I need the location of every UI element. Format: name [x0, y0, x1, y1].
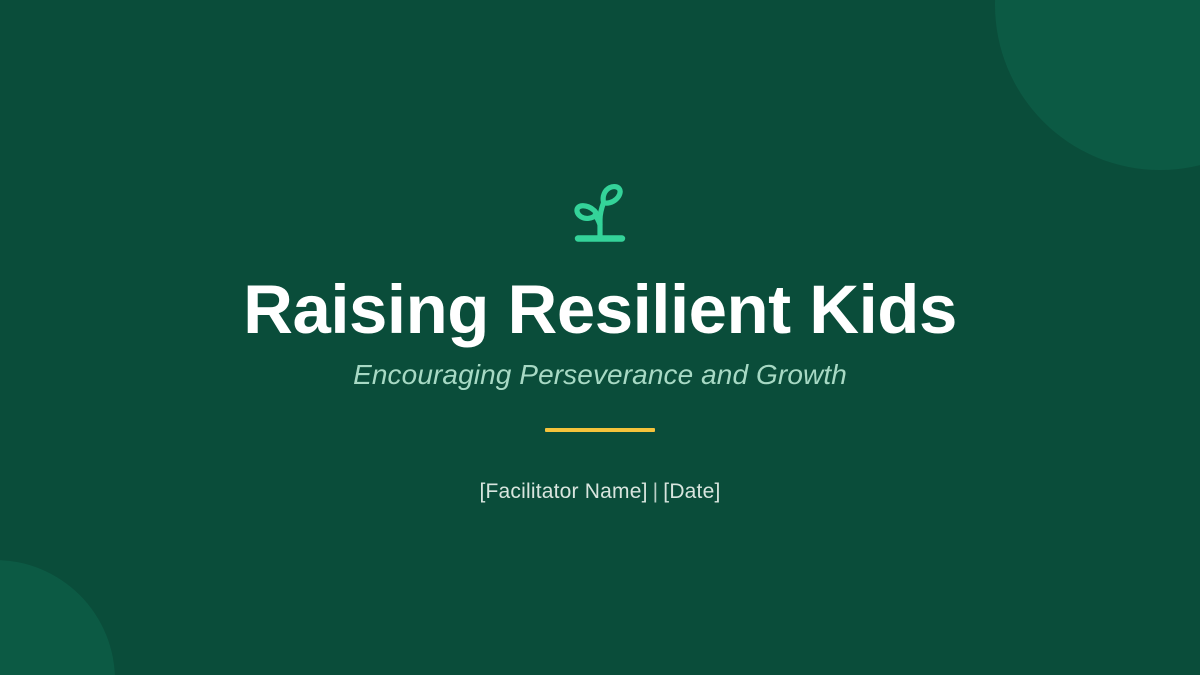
presenter-credit: [Facilitator Name]|[Date]: [479, 440, 720, 504]
sprout-icon: [569, 180, 631, 244]
accent-divider: [545, 428, 655, 432]
facilitator-name: [Facilitator Name]: [479, 480, 647, 503]
title-slide: Raising Resilient Kids Encouraging Perse…: [0, 0, 1200, 675]
slide-content: Raising Resilient Kids Encouraging Perse…: [0, 0, 1200, 675]
slide-subtitle: Encouraging Perseverance and Growth: [353, 344, 847, 391]
page-title: Raising Resilient Kids: [243, 244, 957, 344]
presentation-date: [Date]: [663, 480, 720, 503]
credit-separator: |: [648, 480, 664, 503]
